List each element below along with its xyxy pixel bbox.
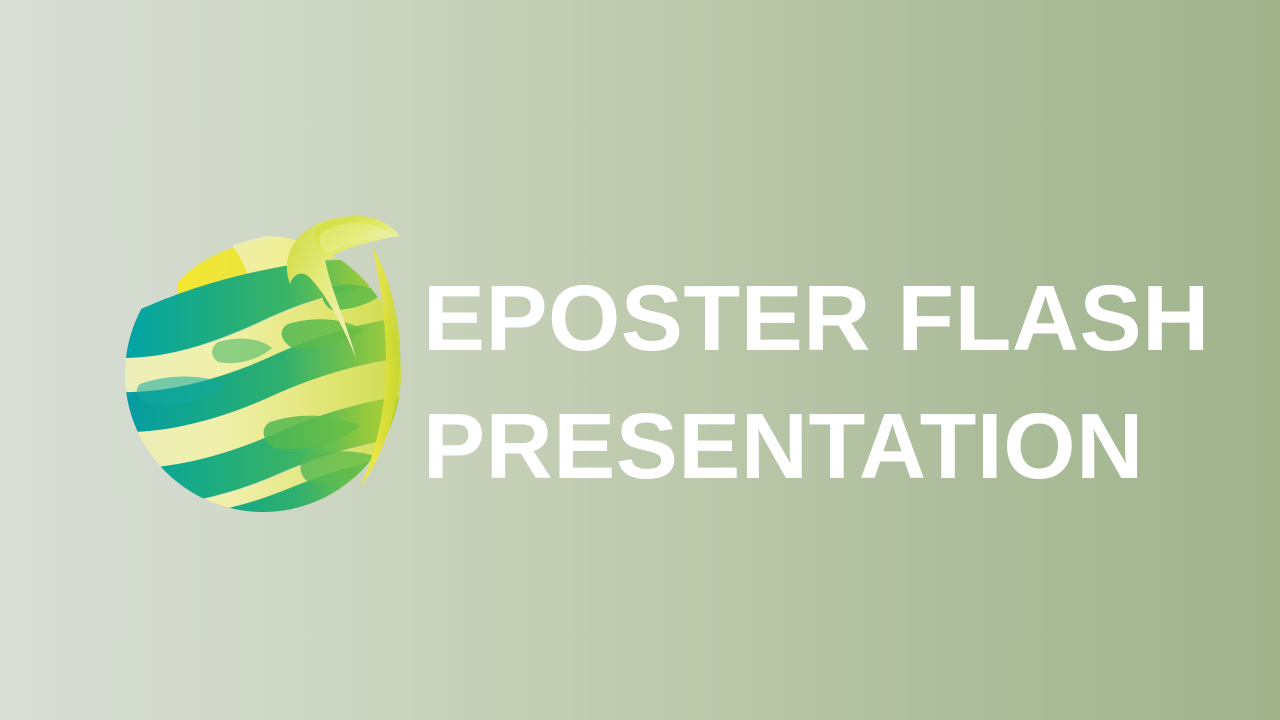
- title-line-1: EPOSTER FLASH: [423, 254, 1223, 382]
- presentation-slide: EPOSTER FLASH PRESENTATION: [0, 0, 1280, 720]
- title-line-2: PRESENTATION: [423, 382, 1223, 510]
- globe-ribbon-bands: [120, 232, 406, 512]
- slide-title: EPOSTER FLASH PRESENTATION: [423, 254, 1223, 510]
- brand-logo: [120, 206, 406, 512]
- spiral-globe-leaf-icon: [120, 206, 406, 512]
